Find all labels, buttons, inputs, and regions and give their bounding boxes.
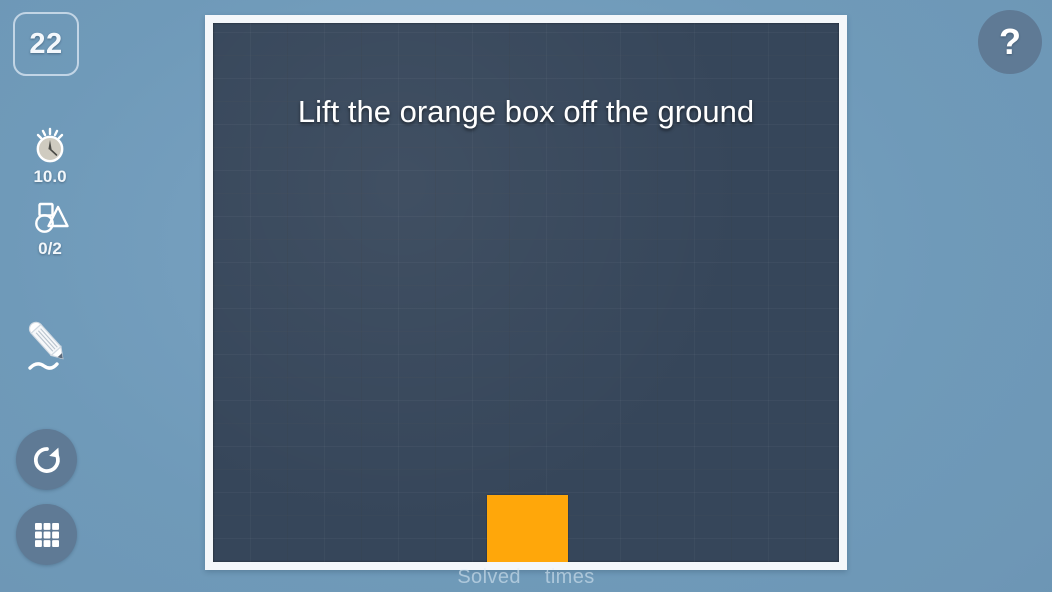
timer-value: 10.0 — [0, 167, 100, 187]
shapes-stat: 0/2 — [0, 198, 100, 259]
restart-button[interactable] — [16, 429, 77, 490]
solved-prefix-label: Solved — [457, 566, 521, 588]
levels-grid-button[interactable] — [16, 504, 77, 565]
puzzle-objective-text: Lift the orange box off the ground — [263, 89, 789, 135]
level-number: 22 — [29, 28, 62, 61]
hud-sidebar: 22 10.0 — [0, 0, 100, 592]
pencil-draw-tool[interactable] — [20, 320, 78, 378]
restart-icon — [30, 443, 64, 477]
stopwatch-icon — [27, 126, 73, 166]
pencil-icon — [20, 320, 78, 378]
play-area[interactable]: Lift the orange box off the ground — [213, 23, 839, 562]
timer-stat: 10.0 — [0, 126, 100, 187]
grid-icon — [31, 519, 63, 551]
solved-count-note: Solvedtimes — [0, 566, 1052, 589]
shapes-icon — [27, 198, 73, 238]
solved-count-value — [521, 566, 545, 588]
question-mark-icon: ? — [999, 21, 1021, 63]
help-button[interactable]: ? — [978, 10, 1042, 74]
stage-frame: Lift the orange box off the ground — [205, 15, 847, 570]
game-screen: 22 10.0 — [0, 0, 1052, 592]
solved-suffix-label: times — [545, 566, 595, 588]
shapes-value: 0/2 — [0, 239, 100, 259]
level-badge: 22 — [13, 12, 79, 76]
orange-box[interactable] — [487, 495, 568, 562]
